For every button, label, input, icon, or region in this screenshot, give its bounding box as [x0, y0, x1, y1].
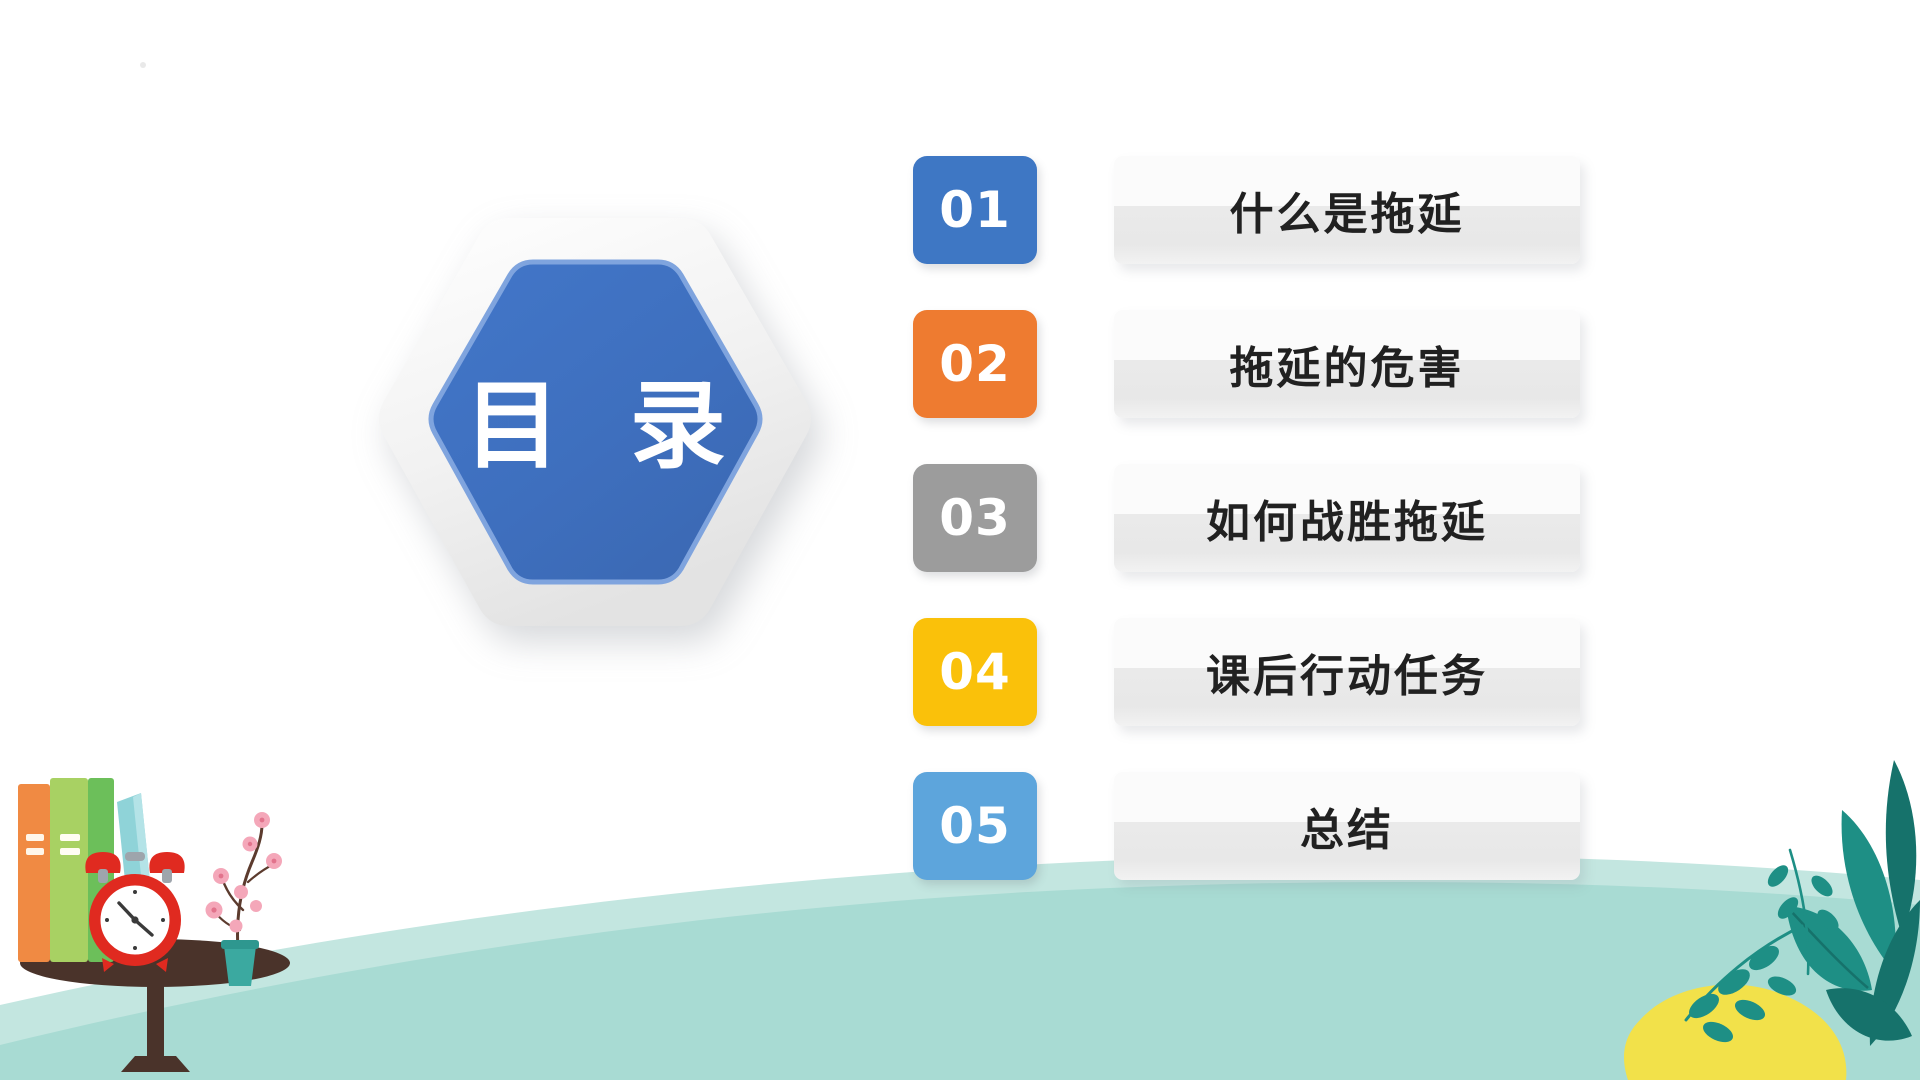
- clock-top-knob: [125, 852, 145, 861]
- toc-label-01: 什么是拖延: [1230, 178, 1465, 242]
- blossom-7: [230, 920, 243, 933]
- clock-bell-right-stem: [162, 869, 172, 883]
- decor-speck: [140, 62, 146, 68]
- toc-badge-01[interactable]: 01: [913, 156, 1037, 264]
- blob-yellow: [1624, 985, 1846, 1080]
- clock-tick-9: [105, 918, 109, 922]
- toc-emblem: 目 录: [370, 205, 820, 640]
- toc-number-05: 05: [939, 797, 1011, 855]
- clock-tick-3: [161, 918, 165, 922]
- toc-number-04: 04: [939, 643, 1011, 701]
- toc-item-01[interactable]: 01 什么是拖延: [913, 156, 1633, 264]
- toc-label-02: 拖延的危害: [1230, 332, 1465, 396]
- toc-badge-03[interactable]: 03: [913, 464, 1037, 572]
- book-light-green-stripe-2: [60, 848, 80, 855]
- book-orange-stripe-1: [26, 834, 44, 841]
- clock-tick-6: [133, 946, 137, 950]
- toc-badge-04[interactable]: 04: [913, 618, 1037, 726]
- clock-tick-12: [133, 890, 137, 894]
- toc-badge-05[interactable]: 05: [913, 772, 1037, 880]
- blossom-cluster: [206, 812, 283, 933]
- clock-center-pin: [131, 916, 138, 923]
- book-orange: [18, 784, 50, 962]
- table-base: [121, 1056, 190, 1072]
- toc-item-02[interactable]: 02 拖延的危害: [913, 310, 1633, 418]
- blossom-5: [234, 885, 248, 899]
- book-orange-stripe-2: [26, 848, 44, 855]
- toc-label-04: 课后行动任务: [1206, 640, 1488, 704]
- vase-lip: [221, 940, 259, 949]
- table-leg: [147, 963, 164, 1068]
- toc-number-01: 01: [939, 181, 1011, 239]
- slide-canvas: 目 录 01 什么是拖延 02 拖延的危害 03 如何战胜拖延: [0, 0, 1920, 1080]
- toc-badge-02[interactable]: 02: [913, 310, 1037, 418]
- vase: [224, 946, 256, 986]
- toc-label-03: 如何战胜拖延: [1206, 486, 1488, 550]
- desk-illustration: [0, 740, 360, 1080]
- toc-item-03[interactable]: 03 如何战胜拖延: [913, 464, 1633, 572]
- toc-bar-01[interactable]: 什么是拖延: [1114, 156, 1580, 264]
- book-light-green: [50, 778, 88, 962]
- toc-number-03: 03: [939, 489, 1011, 547]
- blossom-8: [250, 900, 262, 912]
- toc-bar-03[interactable]: 如何战胜拖延: [1114, 464, 1580, 572]
- foliage-illustration: [1490, 690, 1920, 1080]
- clock-bell-left-stem: [98, 869, 108, 883]
- toc-number-02: 02: [939, 335, 1011, 393]
- toc-bar-02[interactable]: 拖延的危害: [1114, 310, 1580, 418]
- emblem-label: 目 录: [370, 205, 820, 640]
- book-light-green-stripe-1: [60, 834, 80, 841]
- toc-label-05: 总结: [1300, 794, 1394, 858]
